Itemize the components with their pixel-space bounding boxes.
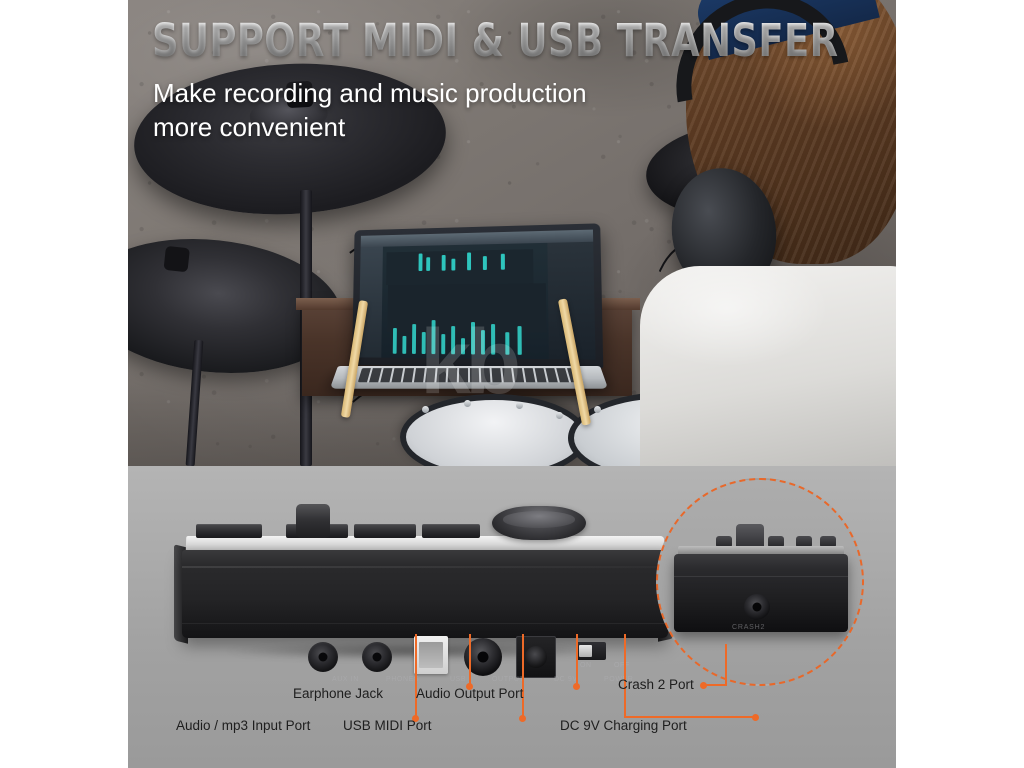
- module-button-4[interactable]: [422, 524, 480, 538]
- inset-top-face: [678, 546, 844, 554]
- callout-dot-crash2: [700, 682, 707, 689]
- port-diagram-panel: AUX IN PHONES USB OUTPUT DC 9V POWER ON …: [128, 466, 896, 768]
- drum-module-device: AUX IN PHONES USB OUTPUT DC 9V POWER ON …: [174, 502, 674, 642]
- crash2-zoom-inset: CRASH2: [656, 478, 864, 686]
- product-marketing-image: kb SUPPORT MIDI & USB TRANSFER Make reco…: [0, 0, 1024, 768]
- module-small-knob[interactable]: [296, 504, 330, 538]
- callout-dot-usb-midi: [519, 715, 526, 722]
- phones-jack[interactable]: [362, 642, 392, 672]
- power-switch[interactable]: [576, 642, 606, 660]
- aux-in-jack[interactable]: [308, 642, 338, 672]
- callout-label-audio-input: Audio / mp3 Input Port: [176, 718, 310, 733]
- callout-line-earphone: [469, 634, 471, 686]
- callout-label-usb-midi: USB MIDI Port: [343, 718, 432, 733]
- callout-label-crash2: Crash 2 Port: [618, 677, 694, 692]
- callout-label-dc9v: DC 9V Charging Port: [560, 718, 687, 733]
- etch-switch-off: OFF: [614, 662, 630, 669]
- callout-label-audio-output: Audio Output Port: [416, 686, 523, 701]
- module-button-1[interactable]: [196, 524, 262, 538]
- callout-line-audio-output: [576, 634, 578, 686]
- etch-aux-in: AUX IN: [332, 676, 359, 683]
- laptop-lid: [352, 223, 603, 368]
- callout-line-audio-input: [415, 634, 417, 718]
- callout-dot-audio-output: [573, 683, 580, 690]
- etch-crash2: CRASH2: [732, 624, 765, 631]
- inset-body: CRASH2: [674, 554, 848, 632]
- etch-switch-on: ON: [580, 662, 592, 669]
- hero-photo: kb SUPPORT MIDI & USB TRANSFER Make reco…: [128, 0, 896, 466]
- etch-dc-9v: DC 9V: [554, 676, 578, 683]
- daw-mixer: [387, 283, 546, 332]
- module-button-3[interactable]: [354, 524, 416, 538]
- page-title: SUPPORT MIDI & USB TRANSFER: [152, 14, 838, 67]
- callout-line-dc9v-vertical: [624, 634, 626, 718]
- module-body: AUX IN PHONES USB OUTPUT DC 9V POWER ON …: [182, 550, 668, 638]
- callout-dot-dc9v: [752, 714, 759, 721]
- callout-line-crash2-vertical: [725, 644, 727, 686]
- subtitle: Make recording and music production more…: [153, 76, 713, 145]
- white-shirt: [640, 266, 896, 466]
- callout-label-earphone: Earphone Jack: [293, 686, 383, 701]
- subtitle-line-1: Make recording and music production: [153, 76, 713, 110]
- drummer: [656, 0, 896, 466]
- laptop-keyboard: [358, 368, 576, 382]
- callout-line-usb-midi: [522, 634, 524, 718]
- etch-usb: USB: [450, 676, 466, 683]
- inset-module: CRASH2: [672, 546, 850, 642]
- module-volume-dial[interactable]: [492, 506, 586, 540]
- subtitle-line-2: more convenient: [153, 110, 713, 144]
- crash2-jack[interactable]: [744, 594, 770, 620]
- daw-piano-roll: [386, 249, 533, 285]
- etch-output: OUTPUT: [492, 676, 524, 683]
- laptop-screen: [359, 230, 596, 360]
- usb-midi-port[interactable]: [414, 636, 448, 674]
